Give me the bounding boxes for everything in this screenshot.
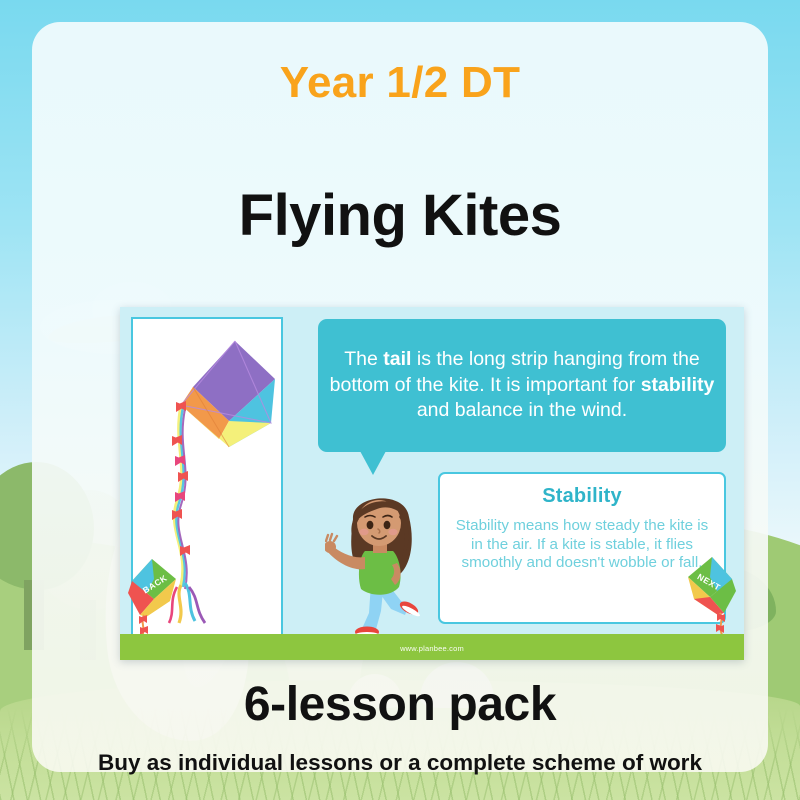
bubble-seg-1: The xyxy=(344,348,383,370)
next-kite-button[interactable]: NEXT xyxy=(680,553,738,637)
slide-preview[interactable]: The tail is the long strip hanging from … xyxy=(120,307,744,660)
product-card: Year 1/2 DT Flying Kites xyxy=(32,22,768,772)
bubble-bold-tail: tail xyxy=(383,348,411,370)
purchase-subtitle: Buy as individual lessons or a complete … xyxy=(32,750,768,776)
poster-canvas: Year 1/2 DT Flying Kites xyxy=(0,0,800,800)
back-kite-icon xyxy=(126,555,184,639)
speech-bubble-pointer xyxy=(360,451,386,475)
watermark: www.planbee.com xyxy=(120,644,744,653)
speech-bubble-text: The tail is the long strip hanging from … xyxy=(318,347,726,423)
definition-heading: Stability xyxy=(450,485,714,508)
page-title: Flying Kites xyxy=(32,182,768,249)
back-kite-button[interactable]: BACK xyxy=(126,555,184,639)
definition-body: Stability means how steady the kite is i… xyxy=(450,517,714,573)
speech-bubble: The tail is the long strip hanging from … xyxy=(318,319,726,452)
bubble-bold-stability: stability xyxy=(641,374,715,396)
next-kite-icon xyxy=(680,553,738,637)
subject-kicker: Year 1/2 DT xyxy=(32,58,768,108)
girl-character xyxy=(325,479,435,639)
pack-label: 6-lesson pack xyxy=(32,677,768,732)
bubble-seg-3: and balance in the wind. xyxy=(417,399,627,421)
